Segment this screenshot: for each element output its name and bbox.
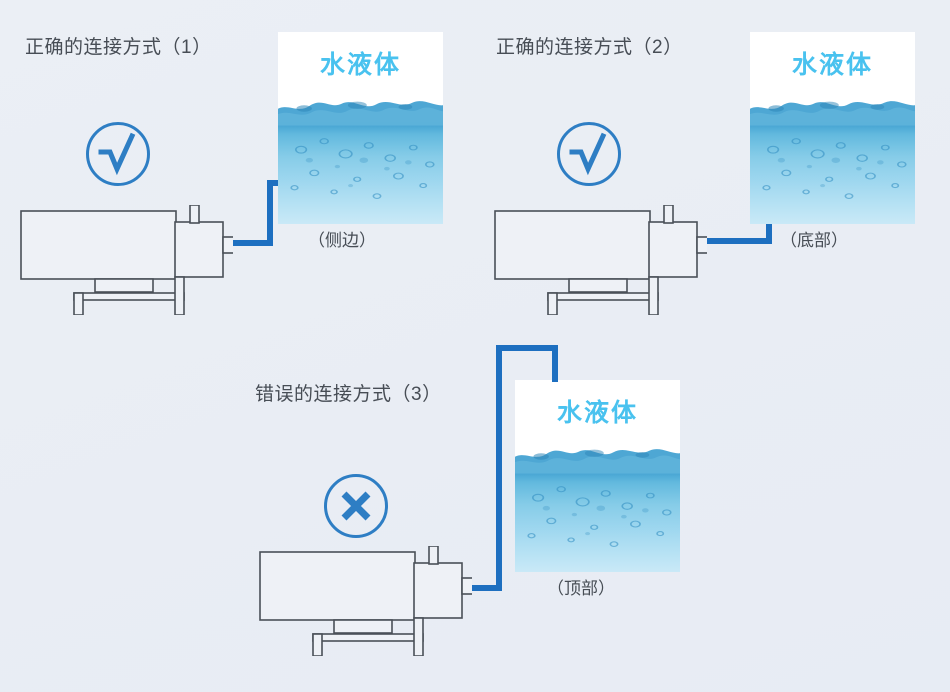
panel-title: 正确的连接方式（1） [25,38,212,57]
motor-body [495,211,650,279]
motor-body [21,211,176,279]
check-mark-icon [556,121,622,187]
water-label: 水液体 [278,45,443,81]
cross-mark-icon [323,473,389,539]
vent-pipe [190,205,199,223]
base-leg-left [548,293,557,315]
diagram-canvas: 正确的连接方式（1） 水液体 [0,0,950,692]
liquid-tank: 水液体 [278,32,443,224]
base-leg-left [74,293,83,315]
panel-title: 错误的连接方式（3） [255,385,442,404]
outlet-nozzle [697,237,707,253]
pump-assembly [18,205,233,315]
vent-pipe [664,205,673,223]
water-bubbles [750,118,915,224]
base-rail [548,293,658,300]
base-leg-left [313,634,322,656]
motor-body [260,552,415,620]
panel-correct-bottom: 正确的连接方式（2） 水液体 [478,0,950,340]
water-bubbles [515,466,680,572]
water-label: 水液体 [750,45,915,81]
vent-pipe [429,546,438,564]
base-rail [74,293,184,300]
base-column [649,277,658,315]
panel-correct-side: 正确的连接方式（1） 水液体 [0,0,470,340]
water-label: 水液体 [515,393,680,429]
water-bubbles [278,118,443,224]
mount-foot [95,279,153,292]
panel-incorrect-top: 错误的连接方式（3） 水液体 [235,330,715,692]
liquid-tank: 水液体 [750,32,915,224]
check-mark-icon [85,121,151,187]
liquid-tank: 水液体 [515,380,680,572]
tank-caption: （侧边） [308,232,376,249]
pump-head [414,563,462,618]
pump-assembly [257,546,472,656]
pump-head [649,222,697,277]
outlet-nozzle [223,237,233,253]
pump-head [175,222,223,277]
pump-assembly [492,205,707,315]
outlet-nozzle [462,578,472,594]
panel-title: 正确的连接方式（2） [496,38,683,57]
mount-foot [569,279,627,292]
tank-caption: （底部） [780,232,848,249]
base-rail [313,634,423,641]
mount-foot [334,620,392,633]
base-column [175,277,184,315]
base-column [414,618,423,656]
